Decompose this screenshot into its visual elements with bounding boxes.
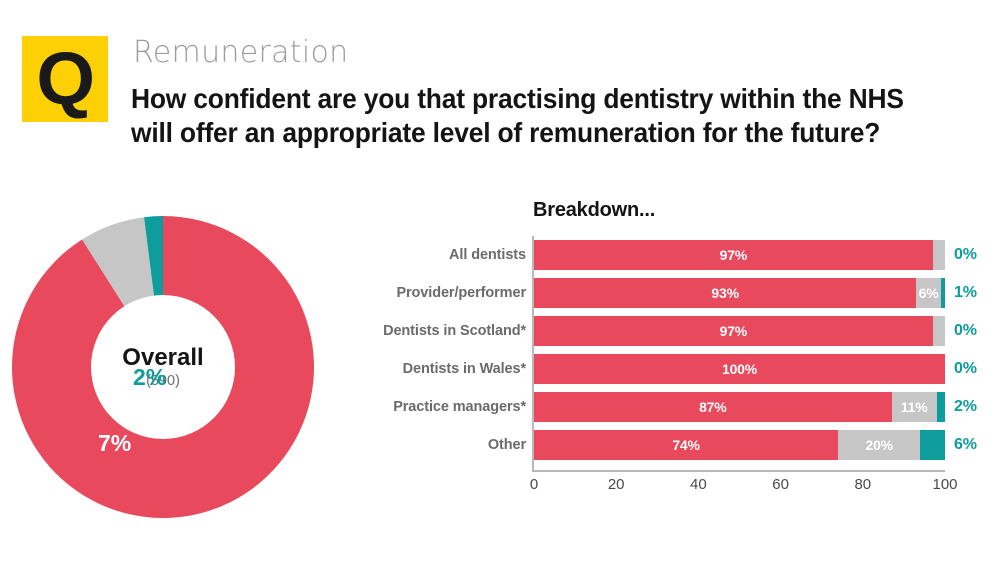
bar-segment-gray: 11% (892, 392, 937, 422)
bar-row-label: Dentists in Scotland* (380, 312, 526, 350)
bar-segment-value: 11% (901, 399, 928, 415)
bar-segment-red: 97% (534, 240, 933, 270)
x-tick-label: 20 (608, 476, 625, 493)
x-axis-line (532, 470, 945, 472)
bar-row: Provider/performer93%6%1%1% (380, 274, 980, 312)
bar-track: 97%3% (534, 316, 945, 346)
bar-row-label: All dentists (380, 236, 526, 274)
breakdown-title: Breakdown... (533, 199, 655, 222)
bar-row: Other74%20%6%6% (380, 426, 980, 464)
bar-row-label: Dentists in Wales* (380, 350, 526, 388)
bar-segment-value: 74% (672, 437, 699, 453)
bar-row: Dentists in Scotland*97%3%0% (380, 312, 980, 350)
bar-track: 100% (534, 354, 945, 384)
bar-segment-value: 20% (866, 437, 893, 453)
header: Q Remuneration How confident are you tha… (0, 0, 1000, 175)
bar-segment-value: 93% (711, 285, 738, 301)
bar-row-right-value: 0% (954, 236, 977, 274)
donut-label-teal: 2% (133, 364, 166, 391)
bar-segment-value: 87% (699, 399, 726, 415)
question-badge: Q (22, 36, 108, 122)
bar-row: All dentists97%3%0% (380, 236, 980, 274)
bar-segment-red: 87% (534, 392, 892, 422)
category-label: Remuneration (133, 36, 348, 70)
y-axis-line (532, 236, 534, 470)
question-text: How confident are you that practising de… (131, 82, 928, 150)
bar-row-right-value: 0% (954, 350, 977, 388)
x-tick-label: 40 (690, 476, 707, 493)
bar-row: Dentists in Wales*100%0% (380, 350, 980, 388)
bar-segment-red: 97% (534, 316, 933, 346)
bar-segment-teal: 2% (937, 392, 945, 422)
bar-segment-gray: 3% (933, 316, 945, 346)
bar-segment-red: 74% (534, 430, 838, 460)
x-tick-label: 100 (932, 476, 957, 493)
bar-row-right-value: 2% (954, 388, 977, 426)
bar-segment-value: 6% (919, 285, 939, 301)
infographic-slide: Q Remuneration How confident are you tha… (0, 0, 1000, 562)
bar-segment-value: 97% (720, 323, 747, 339)
bar-segment-value: 97% (720, 247, 747, 263)
bar-segment-red: 93% (534, 278, 916, 308)
x-tick-label: 80 (854, 476, 871, 493)
bar-segment-value: 100% (722, 361, 757, 377)
x-tick-label: 60 (772, 476, 789, 493)
bar-segment-red: 100% (534, 354, 945, 384)
bar-row-right-value: 1% (954, 274, 977, 312)
donut-label-gray: 7% (98, 430, 131, 457)
bar-segment-teal: 1% (941, 278, 945, 308)
bar-track: 74%20%6% (534, 430, 945, 460)
bar-row: Practice managers*87%11%2%2% (380, 388, 980, 426)
bar-track: 93%6%1% (534, 278, 945, 308)
bar-track: 87%11%2% (534, 392, 945, 422)
bar-row-label: Practice managers* (380, 388, 526, 426)
overall-donut-chart: Overall (590) 2% 7% 91% (0, 180, 340, 540)
bar-track: 97%3% (534, 240, 945, 270)
q-letter: Q (36, 45, 94, 113)
bar-row-right-value: 6% (954, 426, 977, 464)
bar-segment-gray: 20% (838, 430, 920, 460)
breakdown-bar-chart: All dentists97%3%0%Provider/performer93%… (380, 236, 980, 506)
bar-row-right-value: 0% (954, 312, 977, 350)
bar-row-label: Provider/performer (380, 274, 526, 312)
bar-row-label: Other (380, 426, 526, 464)
bar-segment-gray: 6% (916, 278, 941, 308)
x-tick-label: 0 (530, 476, 538, 493)
bar-segment-gray: 3% (933, 240, 945, 270)
bar-segment-teal: 6% (920, 430, 945, 460)
